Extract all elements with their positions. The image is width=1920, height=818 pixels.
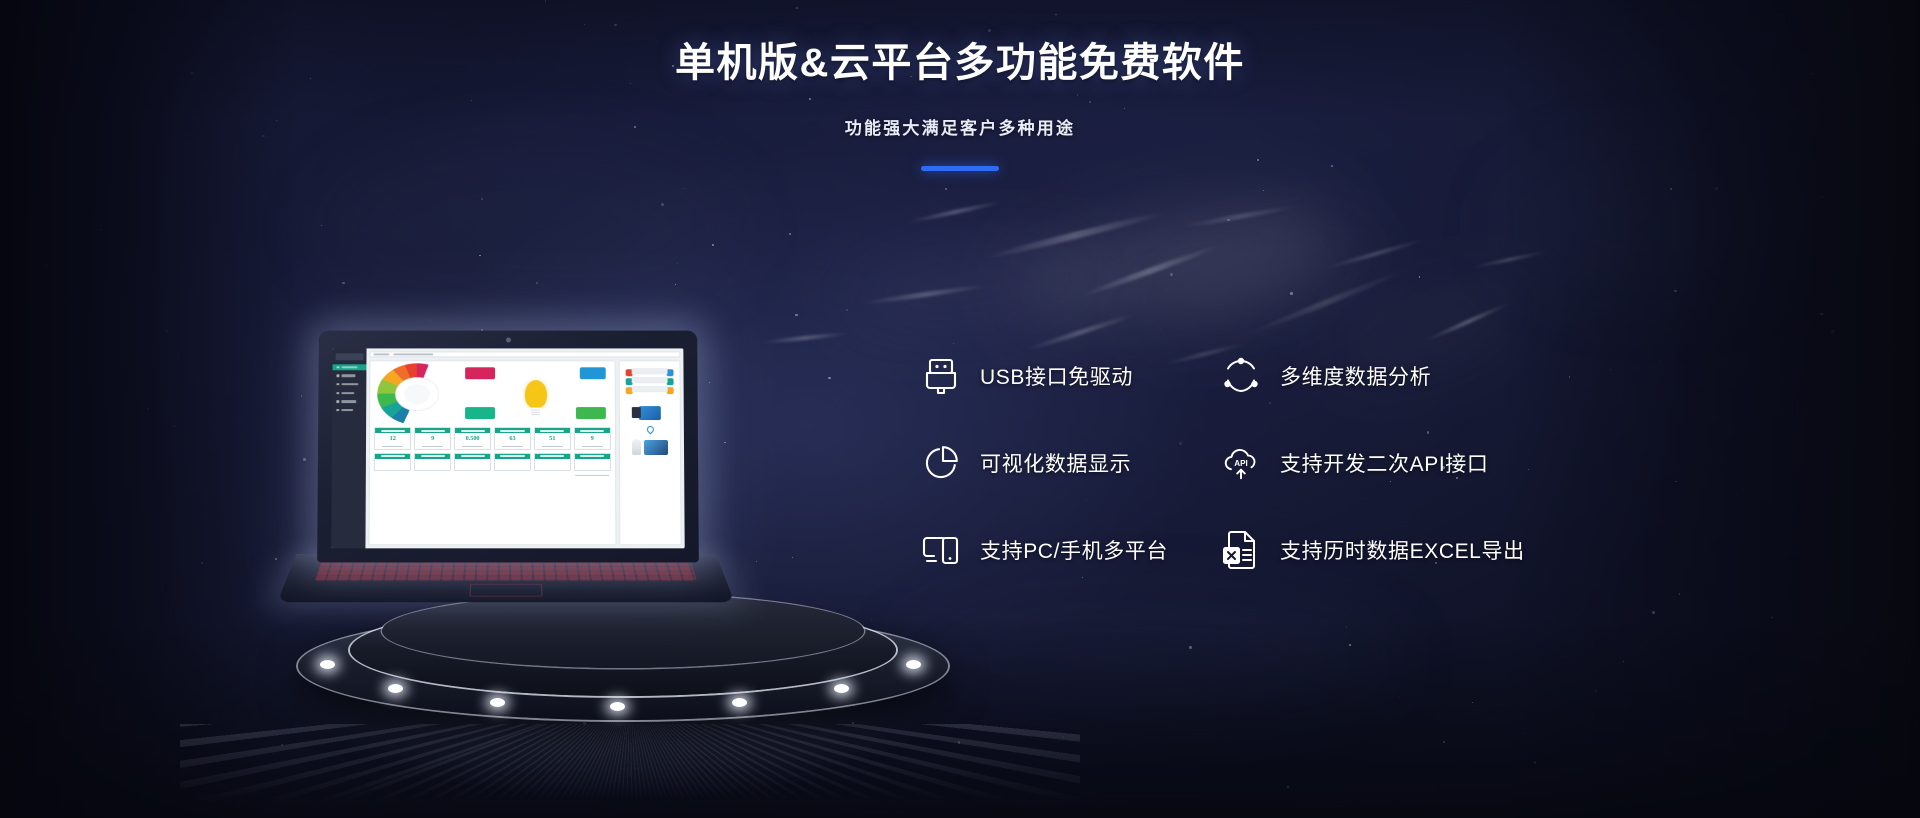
sidebar-item-label	[341, 383, 358, 385]
metric-card	[574, 452, 612, 470]
sidebar-item-label	[341, 400, 356, 402]
metric-card	[454, 452, 491, 470]
pedestal-led	[834, 684, 849, 693]
metric-caption	[575, 444, 610, 449]
metric-card	[374, 452, 412, 470]
metric-card: 9	[414, 427, 451, 450]
dashboard-panel-right	[619, 360, 682, 545]
webcam-icon	[506, 338, 511, 343]
feature-row: 支持PC/手机多平台 支持历时数据EXCEL导出	[920, 529, 1540, 571]
dashboard-toolbar[interactable]	[369, 351, 680, 357]
dashboard-footnote	[374, 473, 611, 478]
dust-particle	[1290, 292, 1293, 295]
sidebar-item-data[interactable]	[332, 381, 366, 387]
gauge-chart	[377, 363, 457, 425]
metric-caption	[535, 444, 570, 449]
metric-row: 12 9 0.500	[374, 427, 611, 450]
menu-icon	[337, 366, 340, 368]
wifi-icon	[645, 425, 655, 435]
radial-light-rays	[180, 724, 1080, 804]
dust-particle	[481, 198, 482, 199]
info-tag	[580, 367, 606, 379]
metric-card: 12	[374, 427, 412, 450]
metric-card: 51	[534, 427, 571, 450]
metric-value	[455, 458, 490, 469]
network-nodes-icon	[1220, 355, 1262, 397]
sidebar-item-reports[interactable]	[332, 390, 366, 396]
dust-particle	[342, 282, 345, 285]
arch-node	[667, 378, 674, 385]
arch-node	[667, 369, 674, 376]
metric-card	[494, 452, 531, 470]
toolbar-chip	[393, 353, 433, 355]
pedestal-led	[388, 684, 403, 693]
metric-row	[374, 452, 611, 470]
feature-item-multiplatform[interactable]: 支持PC/手机多平台	[920, 529, 1220, 571]
menu-icon	[336, 383, 339, 385]
dashboard-sidebar[interactable]	[331, 348, 366, 548]
feature-row: USB接口免驱动 多维度数据分析	[920, 355, 1540, 397]
dust-particle	[789, 233, 791, 235]
svg-text:API: API	[1234, 459, 1248, 468]
arch-node	[667, 387, 674, 394]
info-tag	[465, 367, 495, 379]
sidebar-item-label	[341, 375, 355, 377]
metric-cards: 12 9 0.500	[373, 427, 612, 478]
dashboard-panel-left: 12 9 0.500	[368, 360, 616, 545]
metric-value: 63	[495, 433, 530, 444]
metric-caption	[415, 444, 450, 449]
sidebar-item-label	[341, 409, 353, 411]
feature-label: 多维度数据分析	[1280, 361, 1431, 391]
menu-icon	[336, 400, 339, 402]
menu-icon	[336, 409, 339, 411]
excel-file-icon	[1220, 529, 1262, 571]
dashboard-logo	[336, 353, 364, 360]
metric-value	[495, 458, 530, 469]
dashboard-body: 12 9 0.500	[368, 360, 681, 545]
tablet-illustration	[644, 440, 668, 455]
feature-item-analysis[interactable]: 多维度数据分析	[1220, 355, 1540, 397]
visualization-row	[373, 364, 612, 424]
metric-value	[375, 458, 410, 469]
pedestal-led	[906, 660, 921, 669]
sidebar-item-settings[interactable]	[332, 407, 366, 413]
feature-item-excel-export[interactable]: 支持历时数据EXCEL导出	[1220, 529, 1540, 571]
dust-particle	[1170, 273, 1173, 276]
server-cloud-illustration	[639, 406, 661, 420]
accent-divider	[921, 166, 999, 171]
info-tag	[576, 407, 606, 419]
menu-icon	[336, 375, 339, 377]
dust-particle	[792, 557, 793, 558]
dust-particle	[661, 203, 664, 206]
devices-icon	[920, 529, 962, 571]
metric-value	[575, 458, 610, 469]
menu-icon	[336, 392, 339, 394]
page-subtitle: 功能强大满足客户多种用途	[0, 114, 1920, 139]
info-tag	[465, 407, 495, 419]
sidebar-item-overview[interactable]	[333, 364, 367, 370]
metric-value: 9	[575, 433, 610, 444]
arch-band	[632, 377, 668, 383]
laptop-lid: 12 9 0.500	[317, 331, 699, 563]
sidebar-item-label	[341, 366, 357, 368]
pie-chart-icon	[920, 442, 962, 484]
lightbulb-icon	[524, 380, 546, 408]
cloud-api-icon: API	[1220, 442, 1262, 484]
feature-label: 支持PC/手机多平台	[980, 535, 1168, 565]
page-title: 单机版&云平台多功能免费软件	[0, 30, 1920, 88]
arch-band	[632, 386, 668, 392]
metric-value: 0.500	[455, 433, 490, 444]
feature-label: 支持历时数据EXCEL导出	[1280, 535, 1525, 565]
metric-card: 9	[574, 427, 611, 450]
bulb-infographic	[463, 363, 608, 425]
feature-list: USB接口免驱动 多维度数据分析	[920, 355, 1540, 616]
metric-card	[414, 452, 451, 470]
lamp-illustration	[632, 439, 641, 455]
feature-row: 可视化数据显示 API 支持开发二次API接口	[920, 442, 1540, 484]
dust-particle	[536, 282, 538, 284]
architecture-diagram	[626, 366, 674, 400]
pedestal-led	[732, 698, 747, 707]
metric-value	[415, 458, 450, 469]
metric-value: 12	[375, 433, 410, 444]
laptop-screen: 12 9 0.500	[331, 348, 684, 548]
toolbar-chip	[373, 353, 389, 355]
dust-particle	[828, 377, 830, 379]
pedestal-led	[490, 698, 505, 707]
laptop-mockup: 12 9 0.500	[296, 330, 716, 630]
sidebar-item-label	[341, 392, 354, 394]
hero-header: 单机版&云平台多功能免费软件 功能强大满足客户多种用途	[0, 0, 1920, 171]
feature-item-api[interactable]: API 支持开发二次API接口	[1220, 442, 1540, 484]
feature-item-usb[interactable]: USB接口免驱动	[920, 355, 1220, 397]
arch-band	[632, 368, 668, 374]
metric-card: 63	[494, 427, 531, 450]
metric-caption	[495, 444, 530, 449]
feature-item-visualization[interactable]: 可视化数据显示	[920, 442, 1220, 484]
pedestal-led	[610, 702, 625, 711]
trackpad	[469, 584, 542, 597]
feature-label: USB接口免驱动	[980, 361, 1133, 391]
sidebar-item-alarms[interactable]	[332, 398, 366, 404]
metric-value	[535, 458, 570, 469]
dust-particle	[953, 343, 954, 344]
metric-value: 9	[415, 433, 450, 444]
metric-caption	[455, 444, 490, 449]
pedestal-led	[320, 660, 335, 669]
metric-card: 0.500	[454, 427, 491, 450]
dashboard-main: 12 9 0.500	[365, 348, 684, 548]
metric-card	[534, 452, 571, 470]
metric-caption	[375, 444, 410, 449]
dust-particle	[429, 319, 431, 321]
feature-label: 可视化数据显示	[980, 448, 1131, 478]
sidebar-item-devices[interactable]	[332, 373, 366, 379]
feature-label: 支持开发二次API接口	[1280, 448, 1488, 478]
metric-value: 51	[535, 433, 570, 444]
usb-icon	[920, 355, 962, 397]
